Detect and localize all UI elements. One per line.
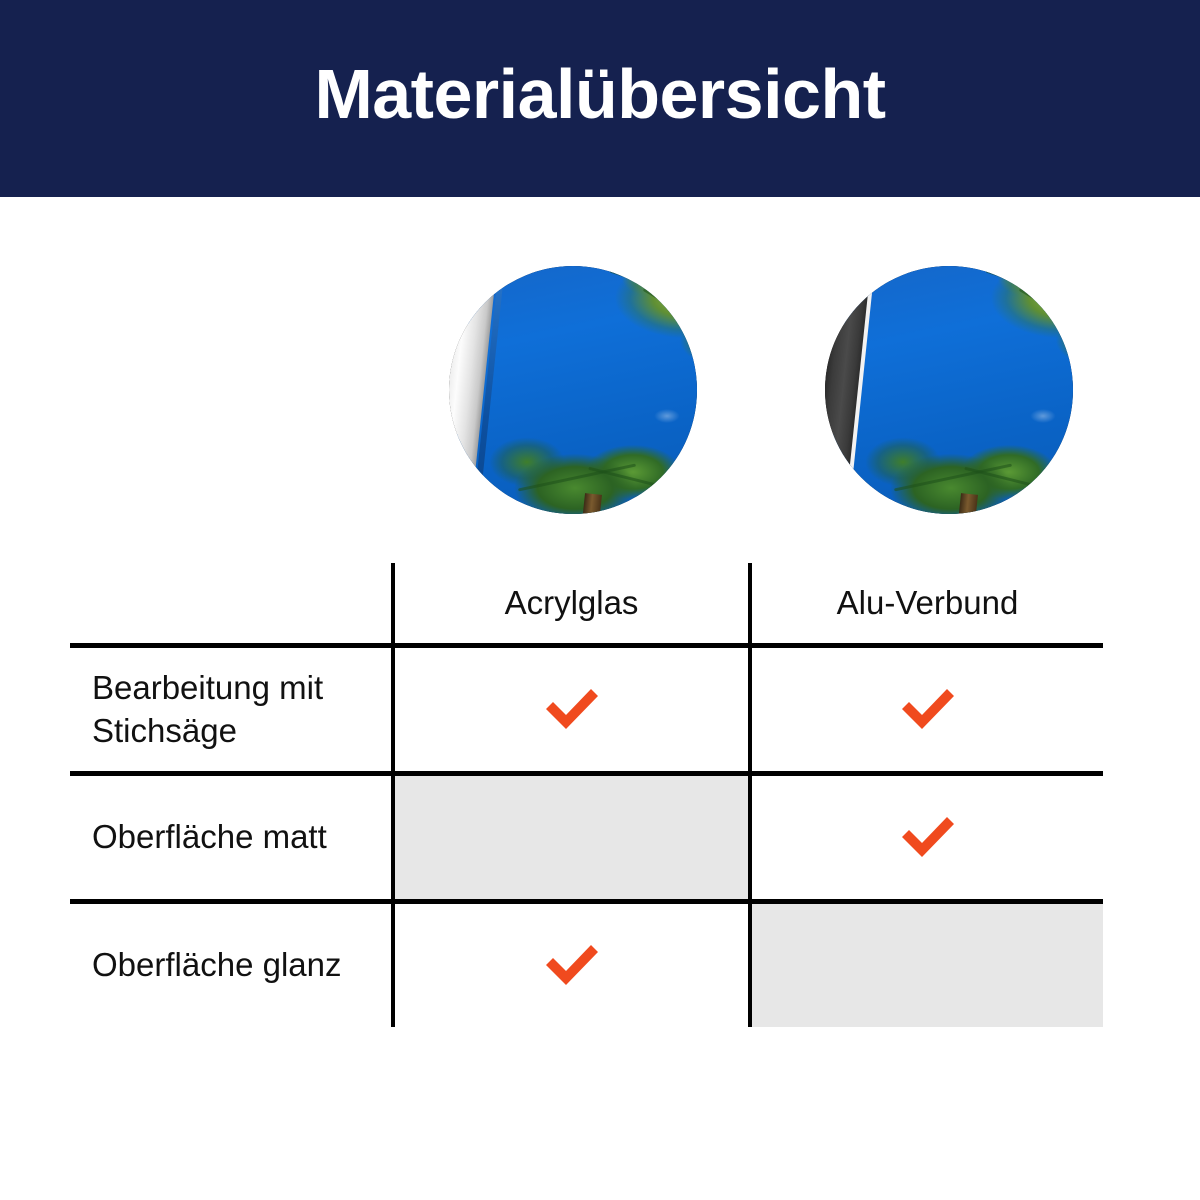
row-label-line-1: Oberfläche matt <box>92 816 391 858</box>
frond-vein <box>588 467 695 497</box>
cell-glanz-alu-verbund <box>750 902 1103 1028</box>
page-title: Materialübersicht <box>314 59 885 129</box>
alu-verbund-product-image <box>825 266 1073 514</box>
check-icon <box>899 811 957 859</box>
palm-trunk <box>578 493 602 514</box>
alu-verbund-thumbnail[interactable] <box>825 266 1073 514</box>
cell-matt-alu-verbund <box>750 774 1103 902</box>
row-label-line-2: Stichsäge <box>92 710 391 752</box>
table-row: Oberfläche glanz <box>70 902 1103 1028</box>
frond-vein <box>894 464 1012 492</box>
page-header: Materialübersicht <box>0 0 1200 197</box>
acrylglas-thumbnail[interactable] <box>449 266 697 514</box>
frond-vein <box>609 270 697 310</box>
check-icon <box>543 683 601 731</box>
table-corner-cell <box>70 563 393 646</box>
palm-trunk <box>954 493 978 514</box>
material-comparison-table-wrapper: Acrylglas Alu-Verbund Bearbeitung mit St… <box>70 563 1103 1013</box>
frond-vein <box>964 467 1071 497</box>
row-label-bearbeitung-stichsaege: Bearbeitung mit Stichsäge <box>70 646 393 774</box>
cell-glanz-acrylglas <box>393 902 750 1028</box>
table-row: Oberfläche matt <box>70 774 1103 902</box>
table-row: Bearbeitung mit Stichsäge <box>70 646 1103 774</box>
product-thumbnail-row <box>0 266 1200 516</box>
frond-vein <box>1059 318 1073 408</box>
row-label-oberflaeche-glanz: Oberfläche glanz <box>70 902 393 1028</box>
check-icon <box>543 939 601 987</box>
column-header-alu-verbund: Alu-Verbund <box>750 563 1103 646</box>
cell-matt-acrylglas <box>393 774 750 902</box>
check-icon <box>899 683 957 731</box>
row-label-line-1: Oberfläche glanz <box>92 944 391 986</box>
palm-tree-photo <box>457 266 697 514</box>
acrylglas-product-image <box>449 266 697 514</box>
cell-bearbeitung-alu-verbund <box>750 646 1103 774</box>
column-header-acrylglas: Acrylglas <box>393 563 750 646</box>
cell-bearbeitung-acrylglas <box>393 646 750 774</box>
material-comparison-table: Acrylglas Alu-Verbund Bearbeitung mit St… <box>70 563 1103 1027</box>
frond-vein <box>518 464 636 492</box>
frond-vein <box>985 270 1073 310</box>
row-label-line-1: Bearbeitung mit <box>92 667 391 709</box>
row-label-oberflaeche-matt: Oberfläche matt <box>70 774 393 902</box>
frond-vein <box>683 318 697 408</box>
table-header-row: Acrylglas Alu-Verbund <box>70 563 1103 646</box>
